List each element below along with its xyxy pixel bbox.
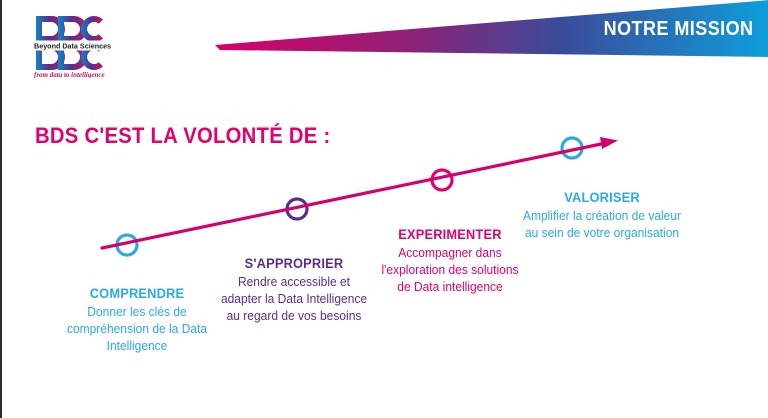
step-title: EXPERIMENTER [374, 227, 526, 244]
step-experimenter: EXPERIMENTER Accompagner dans l'explorat… [370, 227, 530, 297]
step-title: S'APPROPRIER [218, 256, 370, 273]
logo-tagline-bottom: from data to intelligence [34, 71, 105, 78]
step-title: VALORISER [521, 190, 683, 207]
page-title: BDS C'EST LA VOLONTÉ DE : [35, 123, 330, 149]
step-description: Accompagner dans l'exploration des solut… [373, 245, 527, 297]
step-description: Rendre accessible et adapter la Data Int… [217, 274, 371, 326]
step-description: Amplifier la création de valeur au sein … [520, 208, 683, 243]
step-valoriser: VALORISER Amplifier la création de valeu… [517, 190, 687, 242]
logo-mark-icon: Beyond Data Sciences from data to intell… [32, 12, 132, 78]
ring-marker-comprendre [117, 235, 137, 255]
logo-tagline-mid: Beyond Data Sciences [34, 41, 111, 50]
step-description: Donner les clés de compréhension de la D… [60, 304, 214, 356]
ring-marker-experimenter [432, 170, 452, 190]
logo[interactable]: Beyond Data Sciences from data to intell… [32, 12, 132, 78]
slide-canvas: NOTRE MISSION [0, 0, 768, 418]
step-approprier: S'APPROPRIER Rendre accessible et adapte… [214, 256, 374, 326]
header-title: NOTRE MISSION [604, 18, 754, 41]
ring-marker-approprier [287, 199, 307, 219]
ring-marker-valoriser [562, 138, 582, 158]
step-title: COMPRENDRE [61, 286, 213, 303]
arrow-head-icon [600, 137, 618, 149]
step-comprendre: COMPRENDRE Donner les clés de compréhens… [57, 286, 217, 356]
